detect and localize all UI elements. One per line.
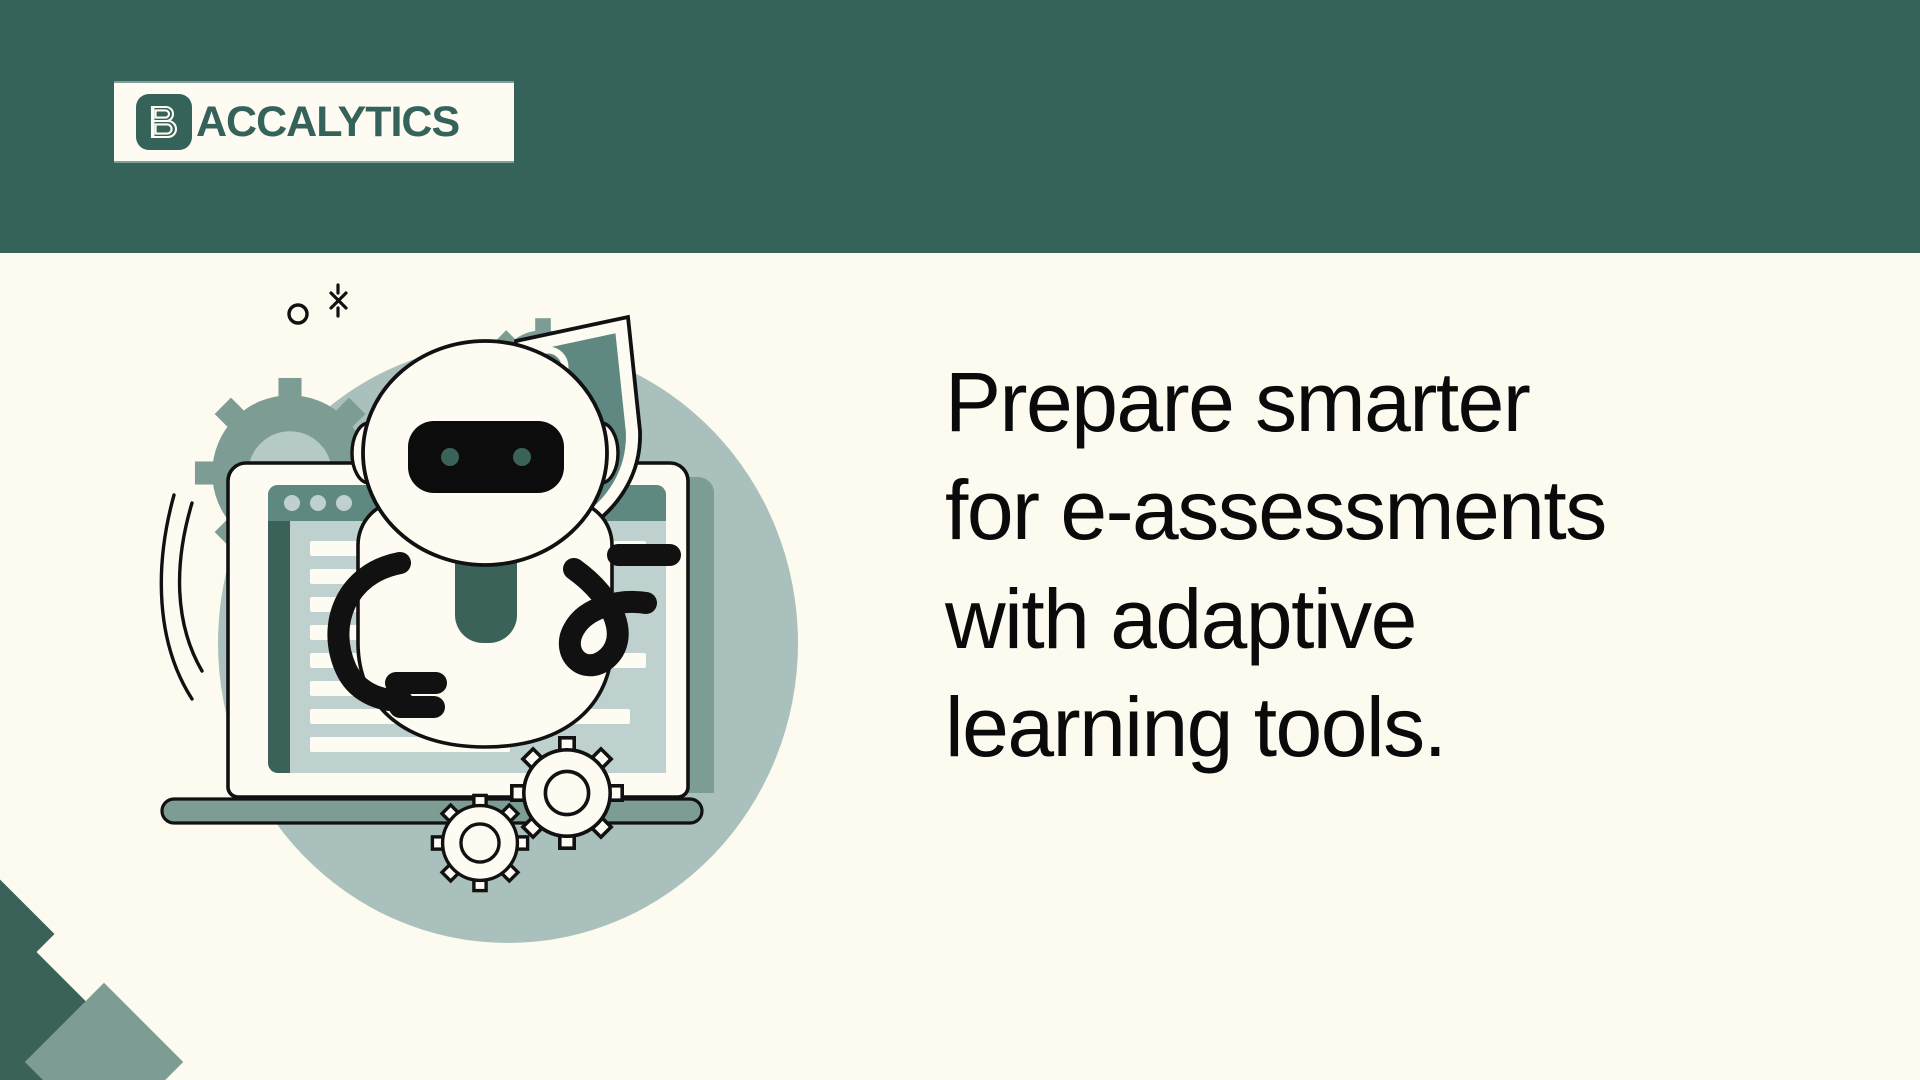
- gear-screen-large: [512, 738, 622, 848]
- headline-line-2: for e-assessments: [945, 456, 1865, 564]
- main-content: Prepare smarter for e-assessments with a…: [0, 253, 1920, 1080]
- gear-screen-small: [432, 795, 527, 890]
- motion-lines: [161, 495, 202, 699]
- laptop-dot-2: [310, 495, 326, 511]
- laptop-dot-3: [336, 495, 352, 511]
- logo[interactable]: ACCALYTICS: [114, 81, 514, 163]
- headline-line-4: learning tools.: [945, 673, 1865, 781]
- baccalytics-b-monogram-icon: [136, 94, 192, 150]
- circle-mark: [289, 305, 307, 323]
- page-header: ACCALYTICS: [0, 0, 1920, 253]
- page-headline: Prepare smarter for e-assessments with a…: [945, 348, 1865, 781]
- ai-robot-laptop-security-illustration: [150, 263, 870, 1023]
- robot-eye-left: [441, 448, 459, 466]
- robot-eye-right: [513, 448, 531, 466]
- headline-line-1: Prepare smarter: [945, 348, 1865, 456]
- sparkle-mark: [331, 285, 346, 316]
- robot-visor: [408, 421, 564, 493]
- logo-wordmark: ACCALYTICS: [196, 101, 459, 144]
- laptop-dot-1: [284, 495, 300, 511]
- headline-line-3: with adaptive: [945, 565, 1865, 673]
